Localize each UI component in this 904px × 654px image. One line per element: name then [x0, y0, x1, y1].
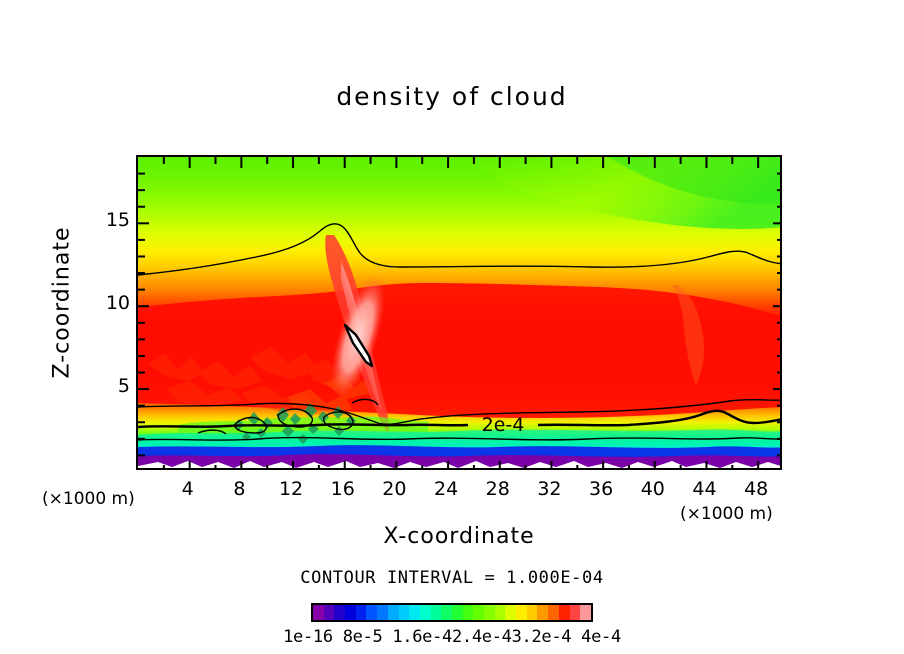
x-tick-label: 8 [215, 478, 263, 500]
x-tick-label: 24 [422, 478, 470, 500]
x-axis-title: X-coordinate [136, 524, 782, 549]
x-axis-tick-labels: 4812162024283236404448 [136, 478, 782, 504]
colorbar-swatch [516, 605, 527, 620]
colorbar-swatch [580, 605, 591, 620]
x-tick-label: 4 [164, 478, 212, 500]
x-tick-label: 28 [474, 478, 522, 500]
colorbar-swatch [345, 605, 356, 620]
colorbar-swatch [473, 605, 484, 620]
y-tick-label: 10 [90, 292, 130, 314]
contour-plot-area: 2e-4 [136, 155, 782, 470]
y-axis-tick-labels: 51015 [86, 155, 130, 470]
page-title: density of cloud [0, 82, 904, 111]
colorbar-swatch [495, 605, 506, 620]
x-tick-label: 16 [319, 478, 367, 500]
y-tick-label: 15 [90, 209, 130, 231]
colorbar-swatch [388, 605, 399, 620]
colorbar-swatch [548, 605, 559, 620]
colorbar [311, 603, 593, 622]
x-tick-label: 48 [732, 478, 780, 500]
colorbar-swatch [505, 605, 516, 620]
colorbar-swatch [570, 605, 581, 620]
colorbar-swatch [356, 605, 367, 620]
colorbar-swatch [484, 605, 495, 620]
figure-canvas: density of cloud [0, 0, 904, 654]
x-tick-label: 12 [267, 478, 315, 500]
contour-plot-svg: 2e-4 [138, 157, 782, 470]
colorbar-swatch [537, 605, 548, 620]
colorbar-swatch [409, 605, 420, 620]
x-tick-label: 32 [525, 478, 573, 500]
y-axis-title: Z-coordinate [50, 173, 75, 433]
colorbar-swatch [463, 605, 474, 620]
colorbar-swatch [559, 605, 570, 620]
colorbar-swatch [431, 605, 442, 620]
colorbar-swatch [441, 605, 452, 620]
contour-interval-caption: CONTOUR INTERVAL = 1.000E-04 [0, 568, 904, 588]
colorbar-swatch [366, 605, 377, 620]
colorbar-swatch [324, 605, 335, 620]
colorbar-swatch [420, 605, 431, 620]
colorbar-swatch [527, 605, 538, 620]
colorbar-swatch [313, 605, 324, 620]
x-tick-label: 36 [577, 478, 625, 500]
contour-field: 2e-4 [138, 157, 782, 470]
x-tick-label: 44 [680, 478, 728, 500]
colorbar-swatch [377, 605, 388, 620]
x-axis-unit-label: (×1000 m) [680, 504, 773, 524]
y-axis-unit-label: (×1000 m) [42, 489, 135, 509]
colorbar-tick-labels: 1e-16 8e-5 1.6e-42.4e-43.2e-4 4e-4 [280, 627, 624, 647]
colorbar-swatch [452, 605, 463, 620]
colorbar-swatch [399, 605, 410, 620]
y-tick-label: 5 [90, 375, 130, 397]
x-tick-label: 20 [370, 478, 418, 500]
colorbar-swatch [334, 605, 345, 620]
x-tick-label: 40 [629, 478, 677, 500]
contour-label-text: 2e-4 [482, 414, 525, 436]
